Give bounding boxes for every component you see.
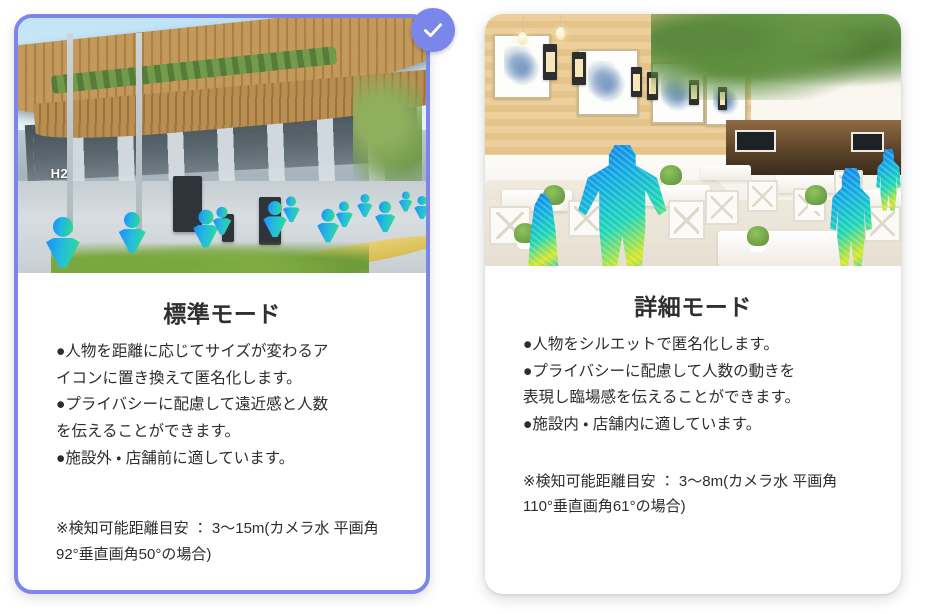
person-icon [286,196,296,222]
wall-lantern [572,52,585,85]
pendant-bulb [518,32,527,45]
light-pole-mid [136,33,142,232]
person-icon [339,202,349,228]
person-icon [217,207,228,235]
description-line: 表現し臨場感を伝えることができます。 [523,385,863,412]
table-plant [660,165,682,185]
dining-table [718,231,843,266]
gate-label-h2: H2 [51,166,69,181]
hanging-greenery [651,14,901,100]
person-icon [360,194,369,217]
wall-art-frame [577,49,639,116]
description-line: ●人物をシルエットで匿名化します。 [523,332,863,359]
wall-lantern [631,67,643,97]
standard-description: ●人物を距離に応じてサイズが変わるア イコンに置き換えて匿名化します。 ●プライ… [56,339,388,472]
light-pole-left [67,33,73,232]
tree-right [353,74,422,189]
restaurant-scene [485,14,901,266]
description-line: ●人物を距離に応じてサイズが変わるア [56,339,388,366]
person-icon [402,191,410,211]
mode-card-standard[interactable]: H2 標準モード ●人物を距離に応じてサイズが変わるア イコンに置き換えて匿名化… [14,14,430,594]
mode-selection-stage: H2 標準モード ●人物を距離に応じてサイズが変わるア イコンに置き換えて匿名化… [0,0,940,614]
dining-table [701,165,751,180]
description-line: ●プライバシーに配慮して遠近感と人数 [56,392,388,419]
description-line: ●プライバシーに配慮して人数の動きを [523,359,863,386]
bar-tv-screen [735,130,776,152]
person-icon [53,217,73,268]
note-line: ※検知可能距離目安 ： 3〜8m(カメラ水 [523,473,788,490]
description-line: ●施設内 ・ 店舗内に適しています。 [523,412,863,439]
description-line: を伝えることができます。 [56,419,388,446]
standard-note: ※検知可能距離目安 ： 3〜15m(カメラ水 平画角92°垂直画角50°の場合) [56,516,388,567]
detail-card-body: 詳細モード ●人物をシルエットで匿名化します。 ●プライバシーに配慮して人数の動… [485,288,901,520]
person-icon [417,196,426,219]
dining-chair [747,180,778,212]
mode-card-detail[interactable]: 詳細モード ●人物をシルエットで匿名化します。 ●プライバシーに配慮して人数の動… [485,14,901,594]
bar-tv-screen [851,132,884,151]
description-line: イコンに置き換えて匿名化します。 [56,366,388,393]
wall-lantern [543,44,557,79]
stadium-exterior-photo: H2 [18,18,426,273]
person-icon [379,201,391,232]
dining-chair [705,190,738,224]
detail-note: ※検知可能距離目安 ： 3〜8m(カメラ水 平画角110°垂直画角61°の場合) [523,469,863,520]
person-icon [322,209,335,242]
check-icon[interactable] [411,8,455,52]
person-icon [268,201,282,237]
table-plant [805,185,827,205]
detail-description: ●人物をシルエットで匿名化します。 ●プライバシーに配慮して人数の動きを 表現し… [523,332,863,439]
dining-chair [668,200,705,239]
description-line: ●施設外 ・ 店舗前に適しています。 [56,446,388,473]
standard-card-body: 標準モード ●人物を距離に応じてサイズが変わるア イコンに置き換えて匿名化します… [18,295,426,567]
page-title: 詳細モード [523,288,863,322]
stadium-scene: H2 [18,18,426,273]
pendant-bulb [556,27,565,40]
page-title: 標準モード [56,295,388,329]
table-plant [747,226,769,246]
person-icon [198,209,213,247]
restaurant-interior-photo [485,14,901,266]
person-icon [124,212,140,253]
note-line: ※検知可能距離目安 ： 3〜15m(カメラ水 [56,520,329,537]
